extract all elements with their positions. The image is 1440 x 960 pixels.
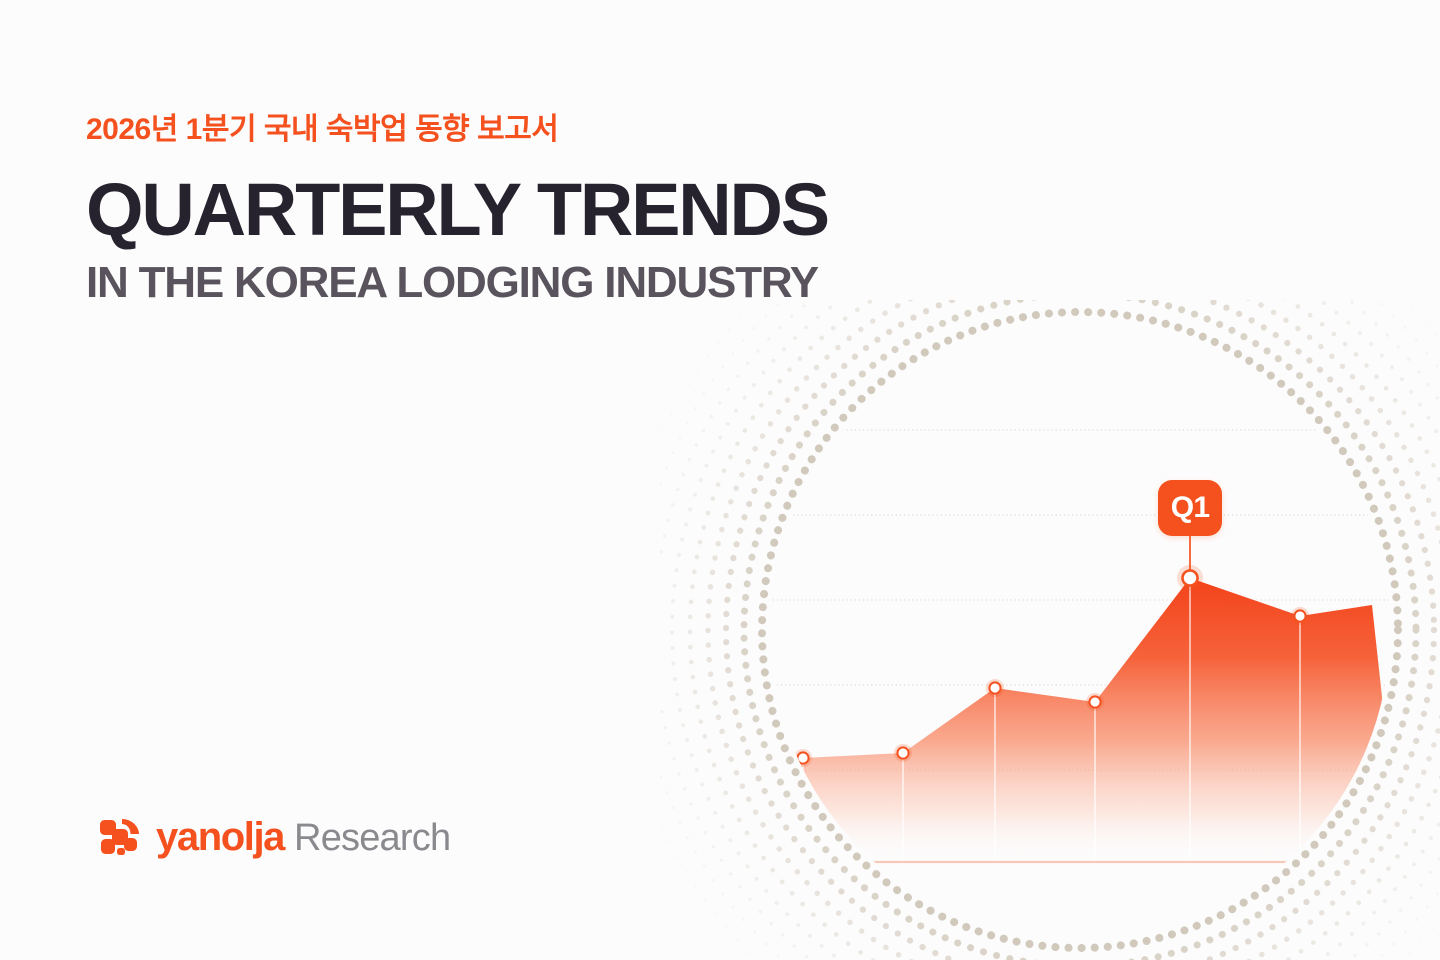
data-point-marker[interactable] (897, 747, 908, 758)
data-point-marker[interactable] (1294, 610, 1305, 621)
q1-badge[interactable]: Q1 (1158, 480, 1222, 536)
yanolja-pinwheel-icon (98, 815, 142, 859)
logo-wordmark: yanolja Research (156, 817, 450, 857)
data-point-marker[interactable] (1089, 696, 1100, 707)
logo-brand-suffix: Research (294, 819, 450, 857)
page-subtitle: IN THE KOREA LODGING INDUSTRY (86, 261, 828, 305)
header-text-block: 2026년 1분기 국내 숙박업 동향 보고서 QUARTERLY TRENDS… (86, 112, 828, 305)
data-point-marker-highlighted[interactable] (1183, 571, 1198, 586)
data-point-marker[interactable] (797, 752, 808, 763)
q1-badge-label: Q1 (1171, 493, 1209, 523)
page-title: QUARTERLY TRENDS (86, 174, 828, 247)
brand-logo[interactable]: yanolja Research (98, 815, 450, 859)
data-point-marker[interactable] (989, 682, 1000, 693)
area-chart-svg (660, 300, 1440, 960)
report-eyebrow: 2026년 1분기 국내 숙박업 동향 보고서 (86, 112, 828, 148)
chart-illustration (660, 300, 1440, 960)
logo-brand-name: yanolja (156, 817, 284, 857)
